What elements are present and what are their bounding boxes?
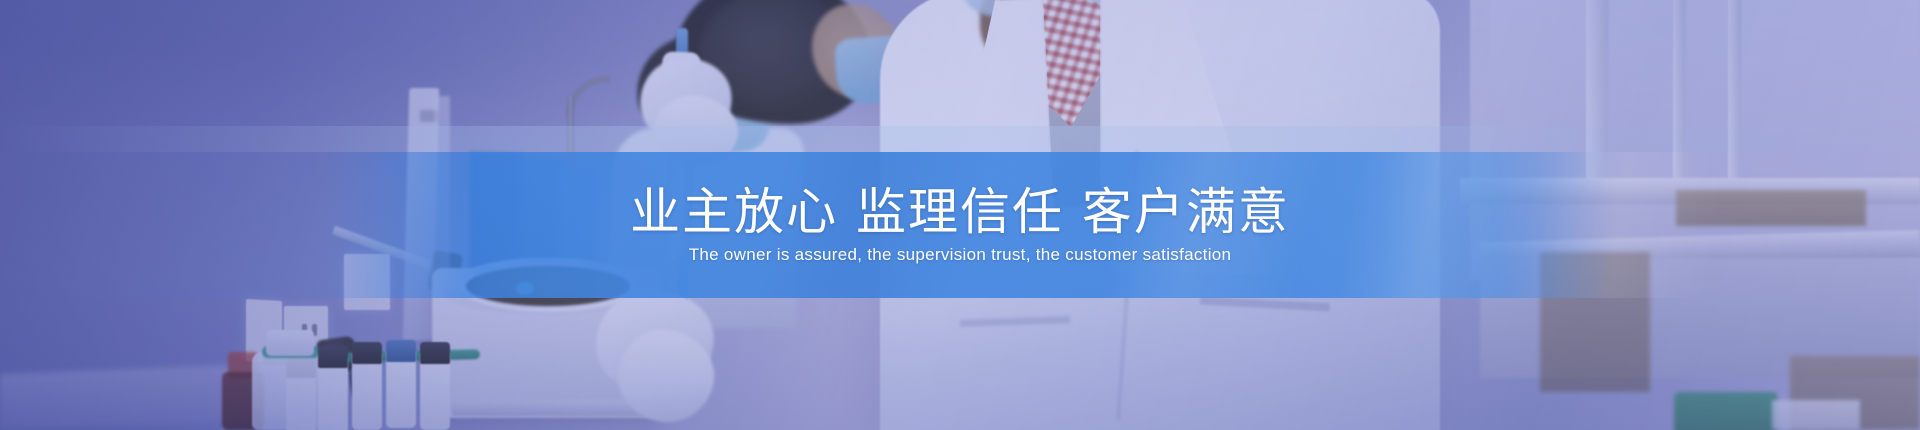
banner-text-block: 业主放心 监理信任 客户满意 The owner is assured, the… [0,152,1920,298]
banner-headline: 业主放心 监理信任 客户满意 [630,185,1290,239]
banner-subline: The owner is assured, the supervision tr… [689,245,1232,265]
banner-bar: 业主放心 监理信任 客户满意 The owner is assured, the… [0,126,1920,298]
banner-bar-top-strip [0,126,1920,152]
hero-banner: 业主放心 监理信任 客户满意 The owner is assured, the… [0,0,1920,430]
